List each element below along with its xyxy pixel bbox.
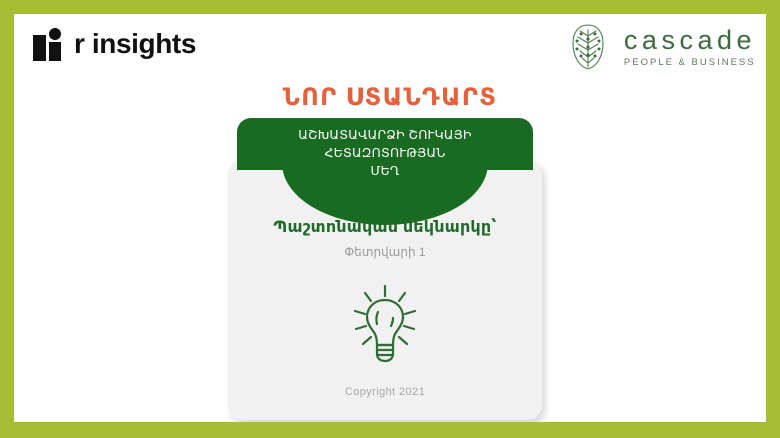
banner-line-1: ԱՇԽԱՏԱՎԱՐՁԻ ՇՈՒԿԱՅԻ xyxy=(249,127,521,145)
card-body: Պաշտոնական մեկնարկը՝ Փետրվարի 1 xyxy=(228,218,542,366)
card-illustration xyxy=(228,282,542,366)
banner-line-2: ՀԵՏԱԶՈՏՈՒԹՅԱՆ xyxy=(249,145,521,163)
announcement-card: ԱՇԽԱՏԱՎԱՐՁԻ ՇՈՒԿԱՅԻ ՀԵՏԱԶՈՏՈՒԹՅԱՆ ՄԵՂ Պա… xyxy=(228,160,542,420)
lightbulb-icon xyxy=(346,282,424,366)
banner-line-3: ՄԵՂ xyxy=(249,163,521,181)
slide-frame: r insights xyxy=(0,0,780,438)
cascade-tagline: PEOPLE & BUSINESS xyxy=(624,58,756,68)
card-banner-text: ԱՇԽԱՏԱՎԱՐՁԻ ՇՈՒԿԱՅԻ ՀԵՏԱԶՈՏՈՒԹՅԱՆ ՄԵՂ xyxy=(249,127,521,180)
cascade-wordmark: cascade xyxy=(624,26,756,54)
copyright-text: Copyright 2021 xyxy=(228,386,542,398)
cascade-text-block: cascade PEOPLE & BUSINESS xyxy=(624,26,756,68)
r-insights-wordmark: r insights xyxy=(74,30,196,58)
slide-header: r insights xyxy=(14,14,766,88)
mark-block-left xyxy=(33,35,46,61)
page-title: ՆՈՐ ՍՏԱՆԴԱՐՏ xyxy=(14,86,766,110)
cascade-logo: cascade PEOPLE & BUSINESS xyxy=(568,22,756,72)
mark-dot xyxy=(49,28,61,40)
cascade-tree-head-emblem-icon xyxy=(568,22,608,72)
slide-content: r insights xyxy=(14,14,766,422)
r-insights-mark-icon xyxy=(33,27,65,61)
mark-block-stem xyxy=(49,42,61,61)
card-launch-date: Փետրվարի 1 xyxy=(228,245,542,259)
card-banner: ԱՇԽԱՏԱՎԱՐՁԻ ՇՈՒԿԱՅԻ ՀԵՏԱԶՈՏՈՒԹՅԱՆ ՄԵՂ xyxy=(237,118,533,170)
card-subtitle: Պաշտոնական մեկնարկը՝ xyxy=(228,218,542,237)
r-insights-logo: r insights xyxy=(33,27,196,61)
